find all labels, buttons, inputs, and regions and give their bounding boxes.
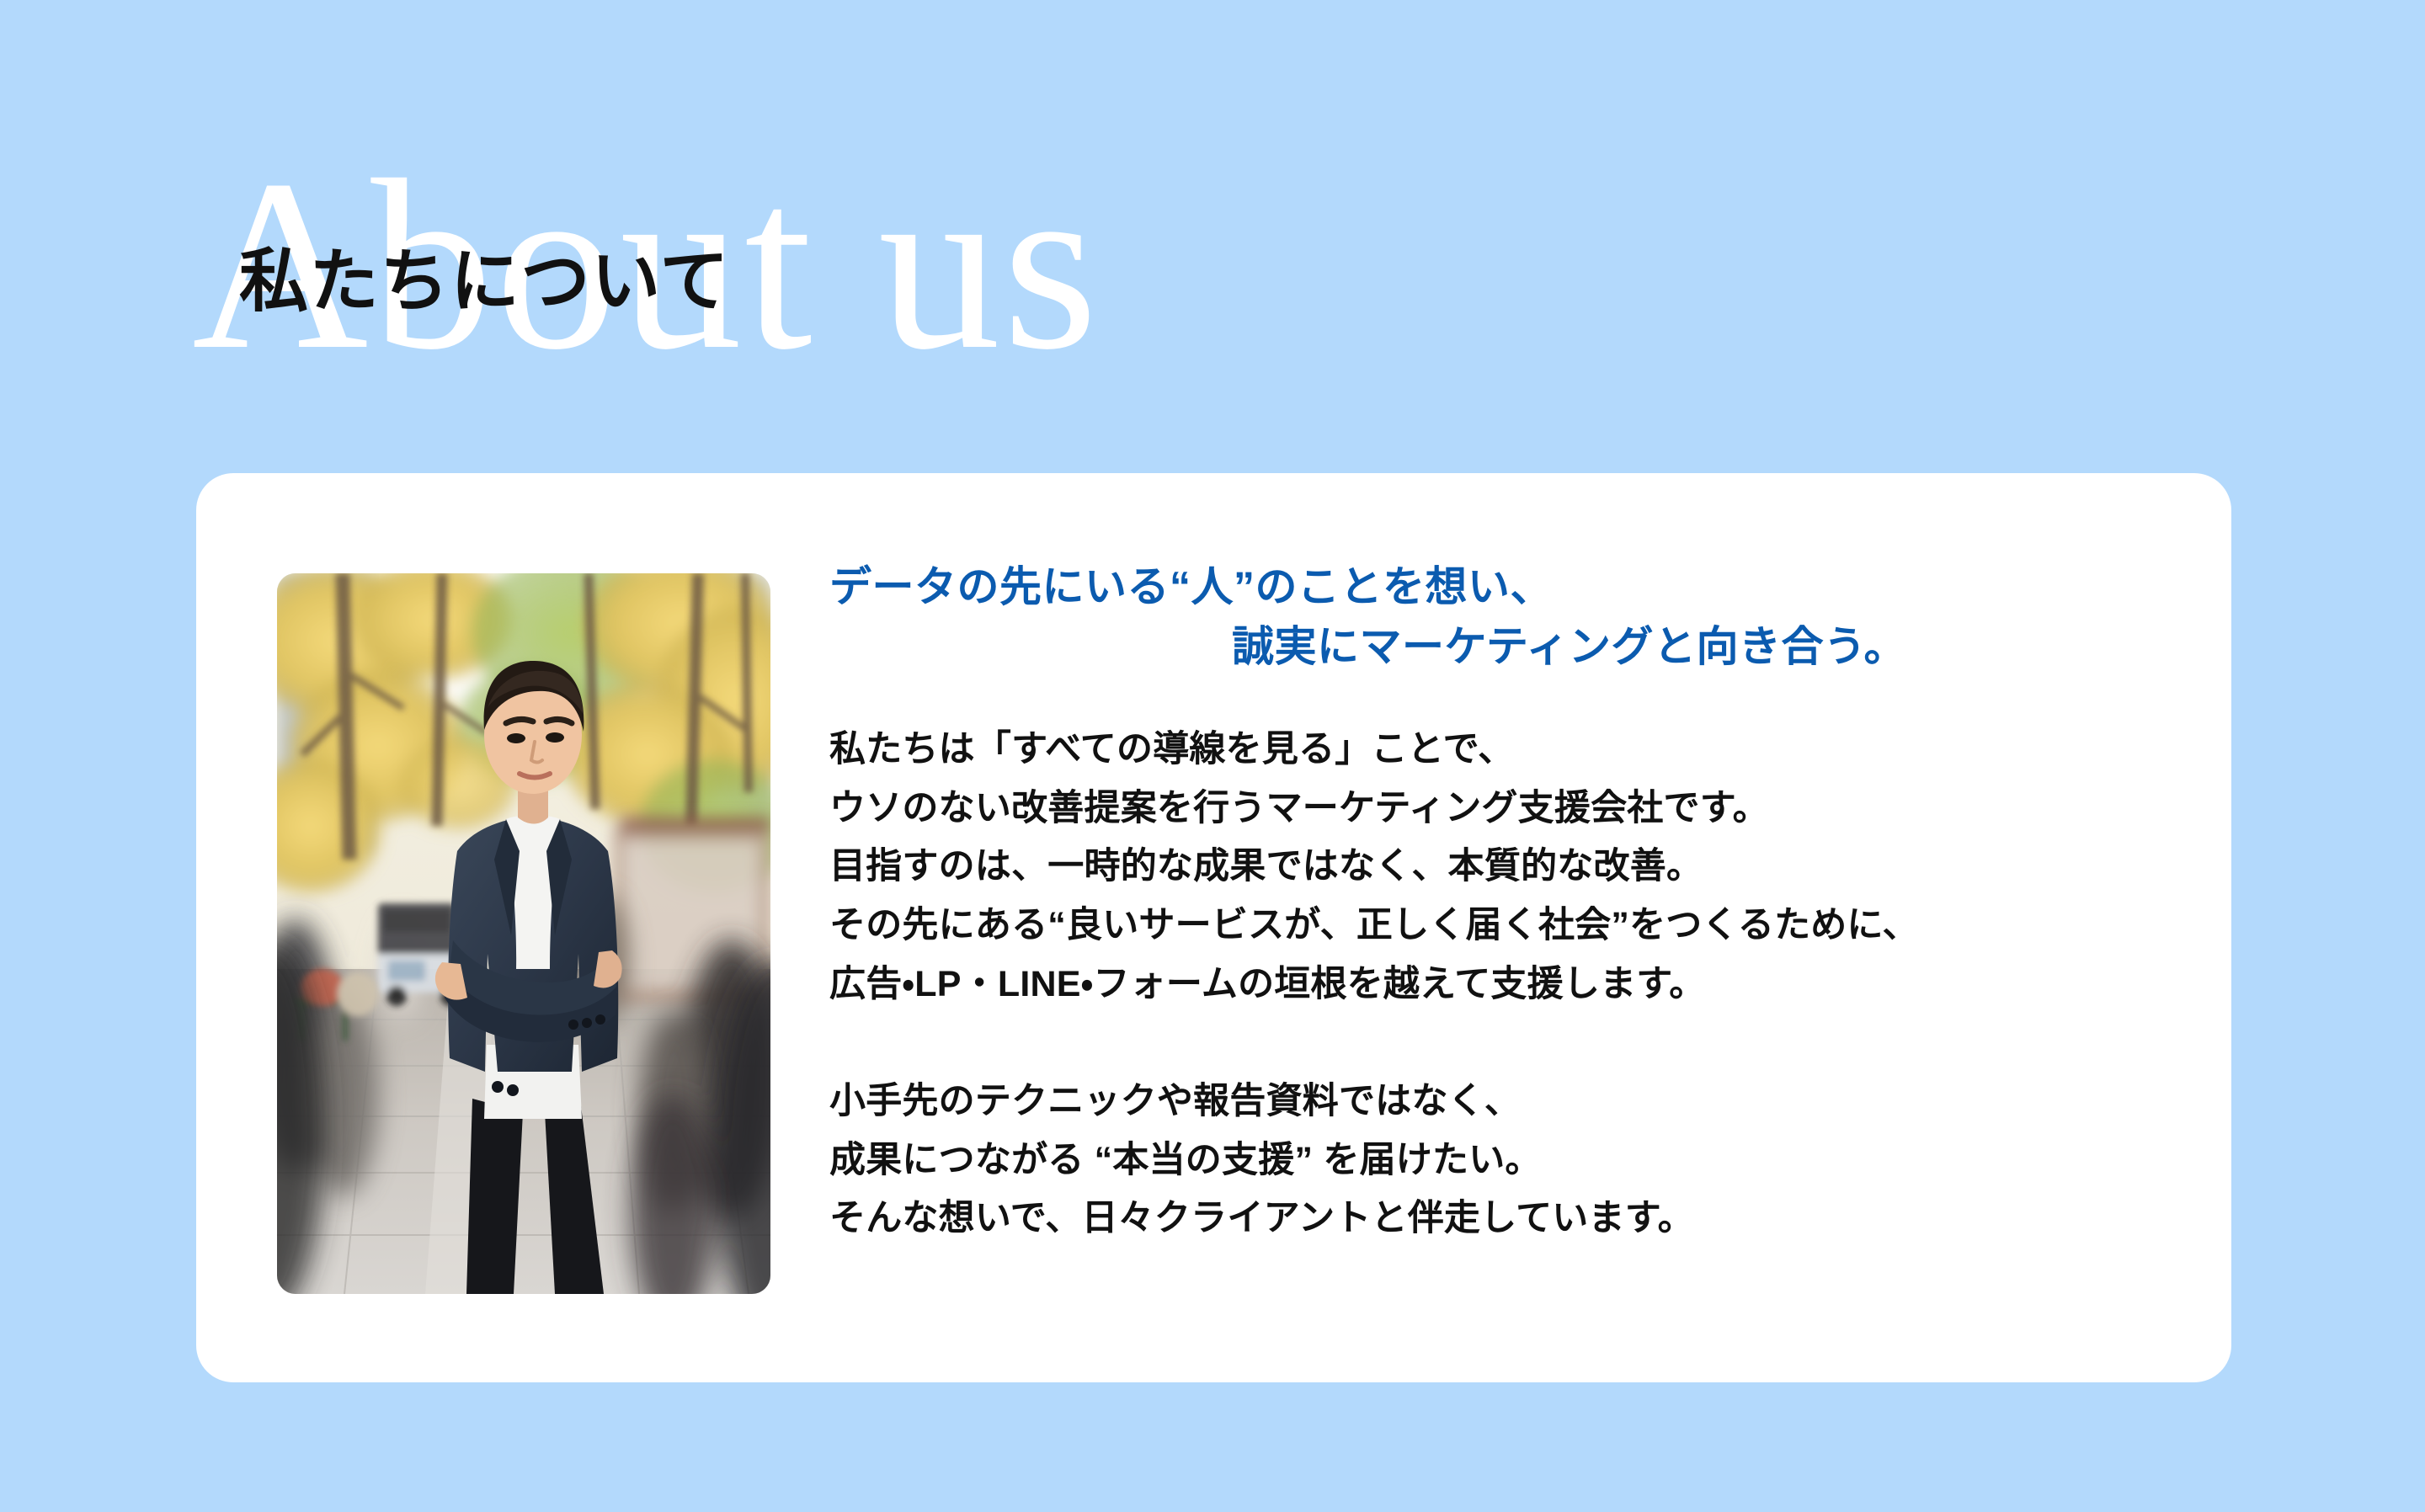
body-paragraph: 小手先のテクニックや報告資料ではなく、 成果につながる “本当の支援” を届けた… — [829, 1073, 2143, 1248]
section-title-block: About us 私たちについて — [0, 0, 2425, 438]
about-body-copy: 私たちは「すべての導線を見る」ことで、 ウソのない改善提案を行うマーケティング支… — [829, 721, 2143, 1248]
body-line: その先にある“良いサービスが、正しく届く社会”をつくるために、 — [829, 897, 2143, 956]
about-card: データの先にいる“人”のことを想い、 誠実にマーケティングと向き合う。 私たちは… — [196, 473, 2231, 1382]
section-title-japanese: 私たちについて — [239, 242, 730, 322]
body-line: ウソのない改善提案を行うマーケティング支援会社です。 — [829, 780, 2143, 839]
body-line: 広告・LP・LINE・フォームの垣根を越えて支援します。 — [829, 956, 2143, 1014]
portrait-photo-illustration — [277, 573, 770, 1294]
lead-heading-line-1: データの先にいる“人”のことを想い、 — [829, 563, 1553, 610]
about-text-column: データの先にいる“人”のことを想い、 誠実にマーケティングと向き合う。 私たちは… — [829, 557, 2143, 1248]
body-line: 目指すのは、一時的な成果ではなく、本質的な改善。 — [829, 838, 2143, 897]
body-line: 私たちは「すべての導線を見る」ことで、 — [829, 721, 2143, 780]
body-paragraph: 私たちは「すべての導線を見る」ことで、 ウソのない改善提案を行うマーケティング支… — [829, 721, 2143, 1014]
lead-heading-line-2: 誠実にマーケティングと向き合う。 — [829, 617, 2143, 677]
body-line: 成果につながる “本当の支援” を届けたい。 — [829, 1131, 2143, 1190]
portrait-photo — [277, 573, 770, 1294]
lead-heading: データの先にいる“人”のことを想い、 誠実にマーケティングと向き合う。 — [829, 557, 2143, 677]
about-card-inner: データの先にいる“人”のことを想い、 誠実にマーケティングと向き合う。 私たちは… — [196, 473, 2231, 1382]
body-line: そんな想いで、日々クライアントと伴走しています。 — [829, 1190, 2143, 1248]
body-line: 小手先のテクニックや報告資料ではなく、 — [829, 1073, 2143, 1131]
